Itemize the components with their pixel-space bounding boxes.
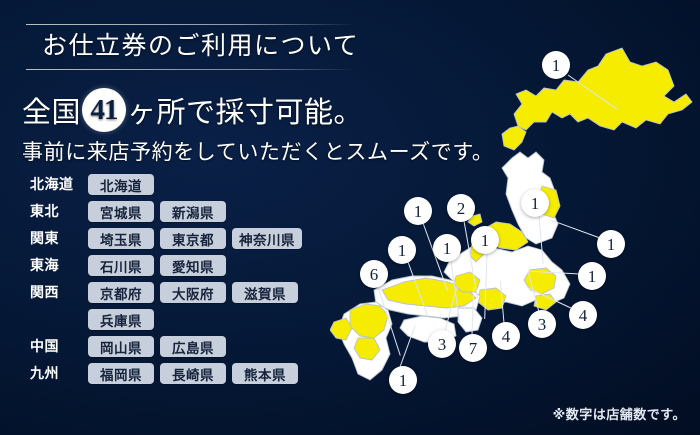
- region-label: 関西: [26, 282, 88, 303]
- title-rule-bottom: [26, 69, 356, 70]
- store-count-marker: 2: [447, 194, 475, 222]
- store-count-marker: 1: [542, 51, 570, 79]
- region-label: 北海道: [26, 174, 88, 195]
- region-tag-group: 北海道: [88, 174, 154, 195]
- prefecture-tag[interactable]: 兵庫県: [88, 309, 154, 330]
- prefecture-tag[interactable]: 愛知県: [160, 255, 226, 276]
- region-label: 中国: [26, 336, 88, 357]
- prefecture-tag[interactable]: 宮城県: [88, 201, 154, 222]
- prefecture-tag[interactable]: 熊本県: [232, 363, 298, 384]
- store-count-marker: 3: [528, 310, 556, 338]
- region-tag-group: 岡山県広島県: [88, 336, 226, 357]
- promo-banner: お仕立券のご利用について 全国 41 ヶ所で採寸可能。 事前に来店予約をしていた…: [0, 0, 700, 435]
- store-count-marker: 1: [521, 189, 549, 217]
- region-label: 九州: [26, 363, 88, 384]
- region-row: 北海道北海道: [26, 174, 346, 197]
- region-tag-group: 京都府大阪府滋賀県: [88, 282, 298, 303]
- prefecture-tag[interactable]: 長崎県: [160, 363, 226, 384]
- store-count-marker: 4: [492, 322, 520, 350]
- store-count-marker: 4: [569, 301, 597, 329]
- prefecture-tag[interactable]: 東京都: [160, 228, 226, 249]
- region-hokkaido-tip: [502, 126, 526, 150]
- region-hokkaido: [514, 48, 692, 130]
- region-kii: [458, 308, 482, 332]
- region-tag-group: 兵庫県: [88, 309, 154, 330]
- headline-prefix: 全国: [22, 89, 81, 131]
- region-tag-group: 石川県愛知県: [88, 255, 226, 276]
- store-count-marker: 1: [433, 234, 461, 262]
- region-label: 東北: [26, 201, 88, 222]
- prefecture-tag[interactable]: 滋賀県: [232, 282, 298, 303]
- store-count-marker: 1: [578, 262, 606, 290]
- store-count-marker: 3: [428, 330, 456, 358]
- prefecture-tag[interactable]: 北海道: [88, 174, 154, 195]
- marker-leader-line: [551, 220, 600, 238]
- footnote: ※数字は店舗数です。: [553, 404, 686, 423]
- count-badge: 41: [82, 88, 126, 132]
- store-count-marker: 7: [459, 334, 487, 362]
- region-row: 九州福岡県長崎県熊本県: [26, 363, 346, 386]
- store-count-marker: 6: [360, 260, 388, 288]
- prefecture-tag[interactable]: 新潟県: [160, 201, 226, 222]
- region-label: 東海: [26, 255, 88, 276]
- headline-suffix: ヶ所で採寸可能。: [127, 89, 363, 131]
- region-tag-group: 福岡県長崎県熊本県: [88, 363, 298, 384]
- prefecture-tag[interactable]: 福岡県: [88, 363, 154, 384]
- prefecture-tag[interactable]: 岡山県: [88, 336, 154, 357]
- prefecture-tag[interactable]: 埼玉県: [88, 228, 154, 249]
- headline: 全国 41 ヶ所で採寸可能。: [22, 88, 363, 132]
- page-title: お仕立券のご利用について: [26, 25, 356, 69]
- prefecture-tag[interactable]: 石川県: [88, 255, 154, 276]
- store-count-marker: 1: [404, 197, 432, 225]
- region-list: 北海道北海道東北宮城県新潟県関東埼玉県東京都神奈川県東海石川県愛知県関西京都府大…: [26, 174, 346, 390]
- store-count-marker: 1: [597, 230, 625, 258]
- region-tag-group: 宮城県新潟県: [88, 201, 226, 222]
- region-tag-group: 埼玉県東京都神奈川県: [88, 228, 302, 249]
- region-row: 兵庫県: [26, 309, 346, 332]
- japan-map-svg: [330, 18, 700, 418]
- prefecture-tag[interactable]: 京都府: [88, 282, 154, 303]
- japan-map-area: 1121116111434731: [330, 18, 700, 418]
- region-row: 中国岡山県広島県: [26, 336, 346, 359]
- store-count-marker: 1: [388, 236, 416, 264]
- region-row: 東北宮城県新潟県: [26, 201, 346, 224]
- title-block: お仕立券のご利用について: [26, 24, 356, 70]
- region-row: 東海石川県愛知県: [26, 255, 346, 278]
- prefecture-tag[interactable]: 神奈川県: [232, 228, 302, 249]
- region-row: 関西京都府大阪府滋賀県: [26, 282, 346, 305]
- prefecture-tag[interactable]: 大阪府: [160, 282, 226, 303]
- store-count-marker: 1: [471, 226, 499, 254]
- region-label: 関東: [26, 228, 88, 249]
- region-row: 関東埼玉県東京都神奈川県: [26, 228, 346, 251]
- prefecture-tag[interactable]: 広島県: [160, 336, 226, 357]
- store-count-marker: 1: [389, 366, 417, 394]
